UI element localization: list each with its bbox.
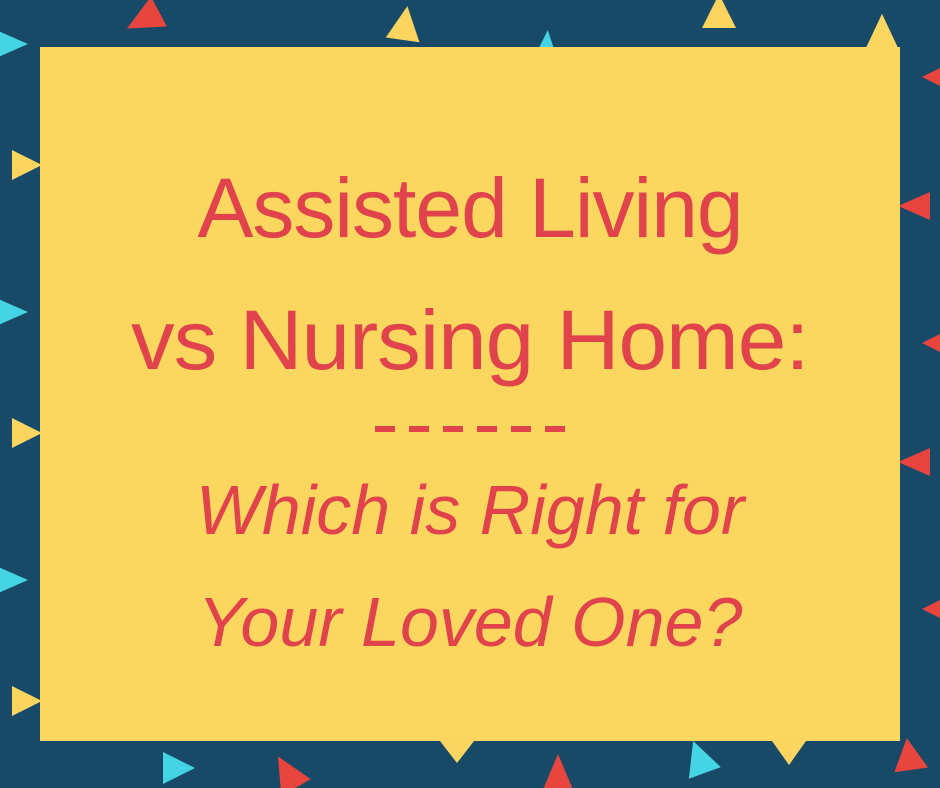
triangle-red-right-1 <box>922 62 940 92</box>
triangle-yellow-top-mid <box>386 4 424 42</box>
divider-dash <box>545 426 565 432</box>
dashed-divider <box>375 426 565 432</box>
triangle-red-right-2 <box>898 192 930 220</box>
headline-line-1: Assisted Living <box>197 142 742 274</box>
triangle-cyan-left-2 <box>0 298 28 326</box>
triangle-cyan-left-1 <box>0 30 28 58</box>
triangle-yellow-left-1 <box>12 150 42 180</box>
divider-dash <box>477 426 497 432</box>
triangle-yellow-left-2 <box>12 418 42 448</box>
headline-line-2: vs Nursing Home: <box>131 274 809 406</box>
card-notch-top-right <box>866 14 898 48</box>
triangle-cyan-left-3 <box>0 566 28 594</box>
divider-dash <box>443 426 463 432</box>
triangle-yellow-top-right <box>702 0 736 28</box>
triangle-red-right-5 <box>922 594 940 624</box>
triangle-red-right-3 <box>922 328 940 358</box>
divider-dash <box>409 426 429 432</box>
triangle-yellow-left-3 <box>12 686 42 716</box>
text-block: Assisted Living vs Nursing Home: Which i… <box>40 47 900 741</box>
poster-canvas: Assisted Living vs Nursing Home: Which i… <box>0 0 940 788</box>
card-notch-bottom-left <box>440 741 474 763</box>
subheadline-line-1: Which is Right for <box>196 454 744 566</box>
divider-dash <box>375 426 395 432</box>
card-notch-bottom-right <box>772 741 806 765</box>
subheadline-line-2: Your Loved One? <box>198 566 743 678</box>
divider-dash <box>511 426 531 432</box>
triangle-red-right-4 <box>898 448 930 476</box>
triangle-red-top-left <box>119 0 167 43</box>
